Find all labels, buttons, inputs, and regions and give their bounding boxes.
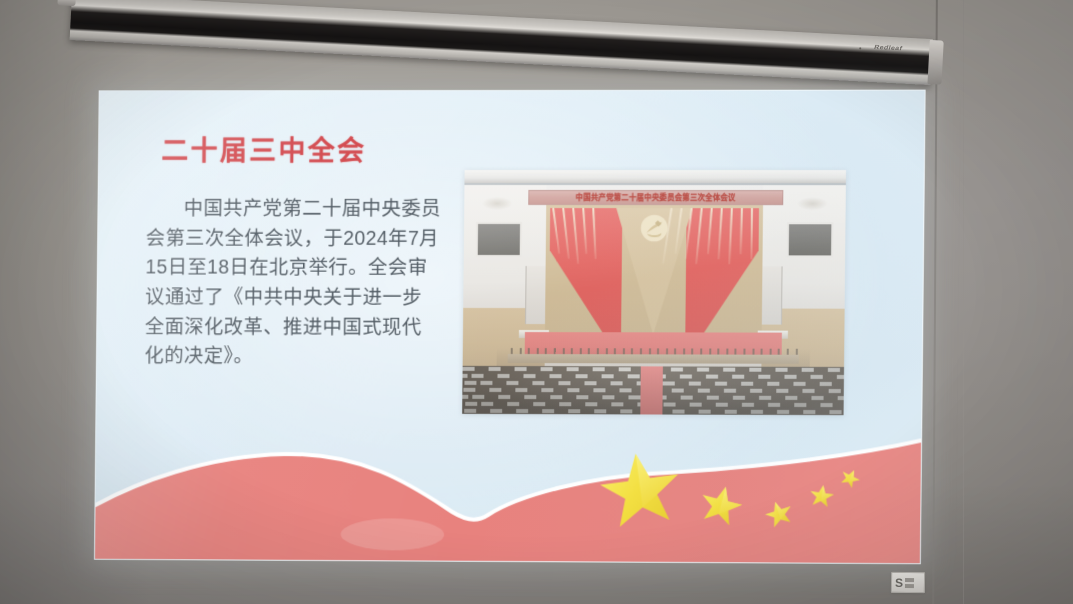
photo-dark-window-left [476,222,522,257]
five-star-flag-decoration [596,447,889,541]
wall-sticker-label: S [891,572,925,593]
hammer-and-sickle-icon [640,214,668,242]
star-small-4 [838,466,862,489]
photo-conference-banner: 中国共产党第二十届中央委员会第三次全体会议 [528,190,783,205]
wall-seam-line-secondary [963,0,964,604]
sticker-glyph: S [895,576,903,588]
conference-hall-photo: 中国共产党第二十届中央委员会第三次全体会议 [462,170,846,415]
star-small-1 [697,482,746,527]
slide-canvas: 二十届三中全会 中国共产党第二十届中央委员会第三次全体会议，于2024年7月15… [94,90,926,565]
photo-dark-window-right [787,222,834,257]
slide-title: 二十届三中全会 [161,129,367,168]
photo-wall-medallion-right [797,197,827,210]
photo-ceiling [464,170,846,183]
photo-door-right [760,266,783,324]
projected-slide: 二十届三中全会 中国共产党第二十届中央委员会第三次全体会议，于2024年7月15… [94,90,926,565]
sticker-barcode-icon [905,577,914,587]
star-small-2 [762,498,795,529]
roller-mount-bracket-left [57,0,75,6]
photo-wall-medallion-left [482,197,512,210]
star-large [597,449,684,529]
slide-body-paragraph: 中国共产党第二十届中央委员会第三次全体会议，于2024年7月15日至18日在北京… [144,195,442,373]
brand-logo-dot-icon [859,47,861,49]
roller-case-endcap [927,40,943,85]
photo-banner-text: 中国共产党第二十届中央委员会第三次全体会议 [576,192,736,204]
star-small-3 [808,483,834,507]
photo-seating-shading [462,366,844,415]
projected-slide-scene: Redleaf 二十届三中全会 中国共产党第二十届中央委员会第三次全体会议，于2… [0,0,1073,604]
